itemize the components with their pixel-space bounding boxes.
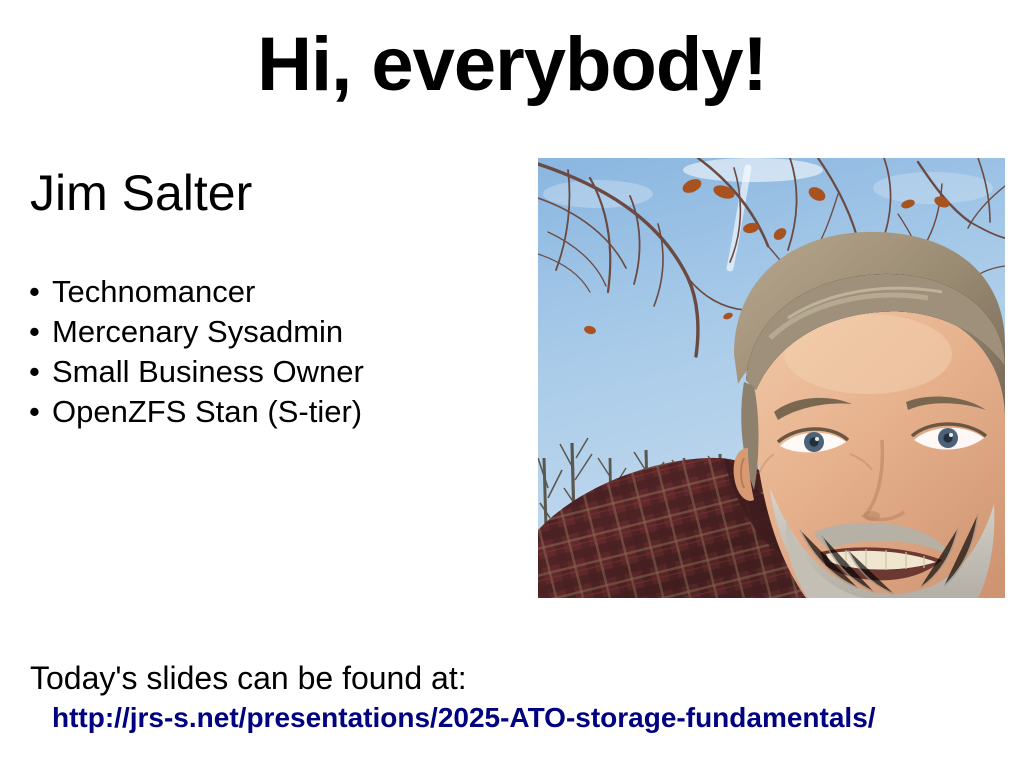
presentation-slide: Hi, everybody! Jim Salter • Technomancer…: [0, 0, 1024, 768]
list-item: • Small Business Owner: [28, 352, 508, 392]
bullet-icon: •: [29, 312, 40, 352]
slides-url-link[interactable]: http://jrs-s.net/presentations/2025-ATO-…: [52, 700, 876, 736]
speaker-roles-list: • Technomancer • Mercenary Sysadmin • Sm…: [28, 272, 508, 432]
speaker-selfie-photo: [538, 158, 1005, 598]
speaker-name: Jim Salter: [30, 163, 252, 223]
list-item-label: Mercenary Sysadmin: [52, 314, 343, 349]
page-title: Hi, everybody!: [0, 22, 1024, 108]
bullet-icon: •: [29, 352, 40, 392]
list-item: • Technomancer: [28, 272, 508, 312]
list-item-label: Technomancer: [52, 274, 255, 309]
bullet-icon: •: [29, 272, 40, 312]
selfie-illustration: [538, 158, 1005, 598]
list-item-label: OpenZFS Stan (S-tier): [52, 394, 362, 429]
list-item-label: Small Business Owner: [52, 354, 364, 389]
bullet-icon: •: [29, 392, 40, 432]
list-item: • Mercenary Sysadmin: [28, 312, 508, 352]
slides-availability-text: Today's slides can be found at:: [30, 658, 467, 698]
list-item: • OpenZFS Stan (S-tier): [28, 392, 508, 432]
